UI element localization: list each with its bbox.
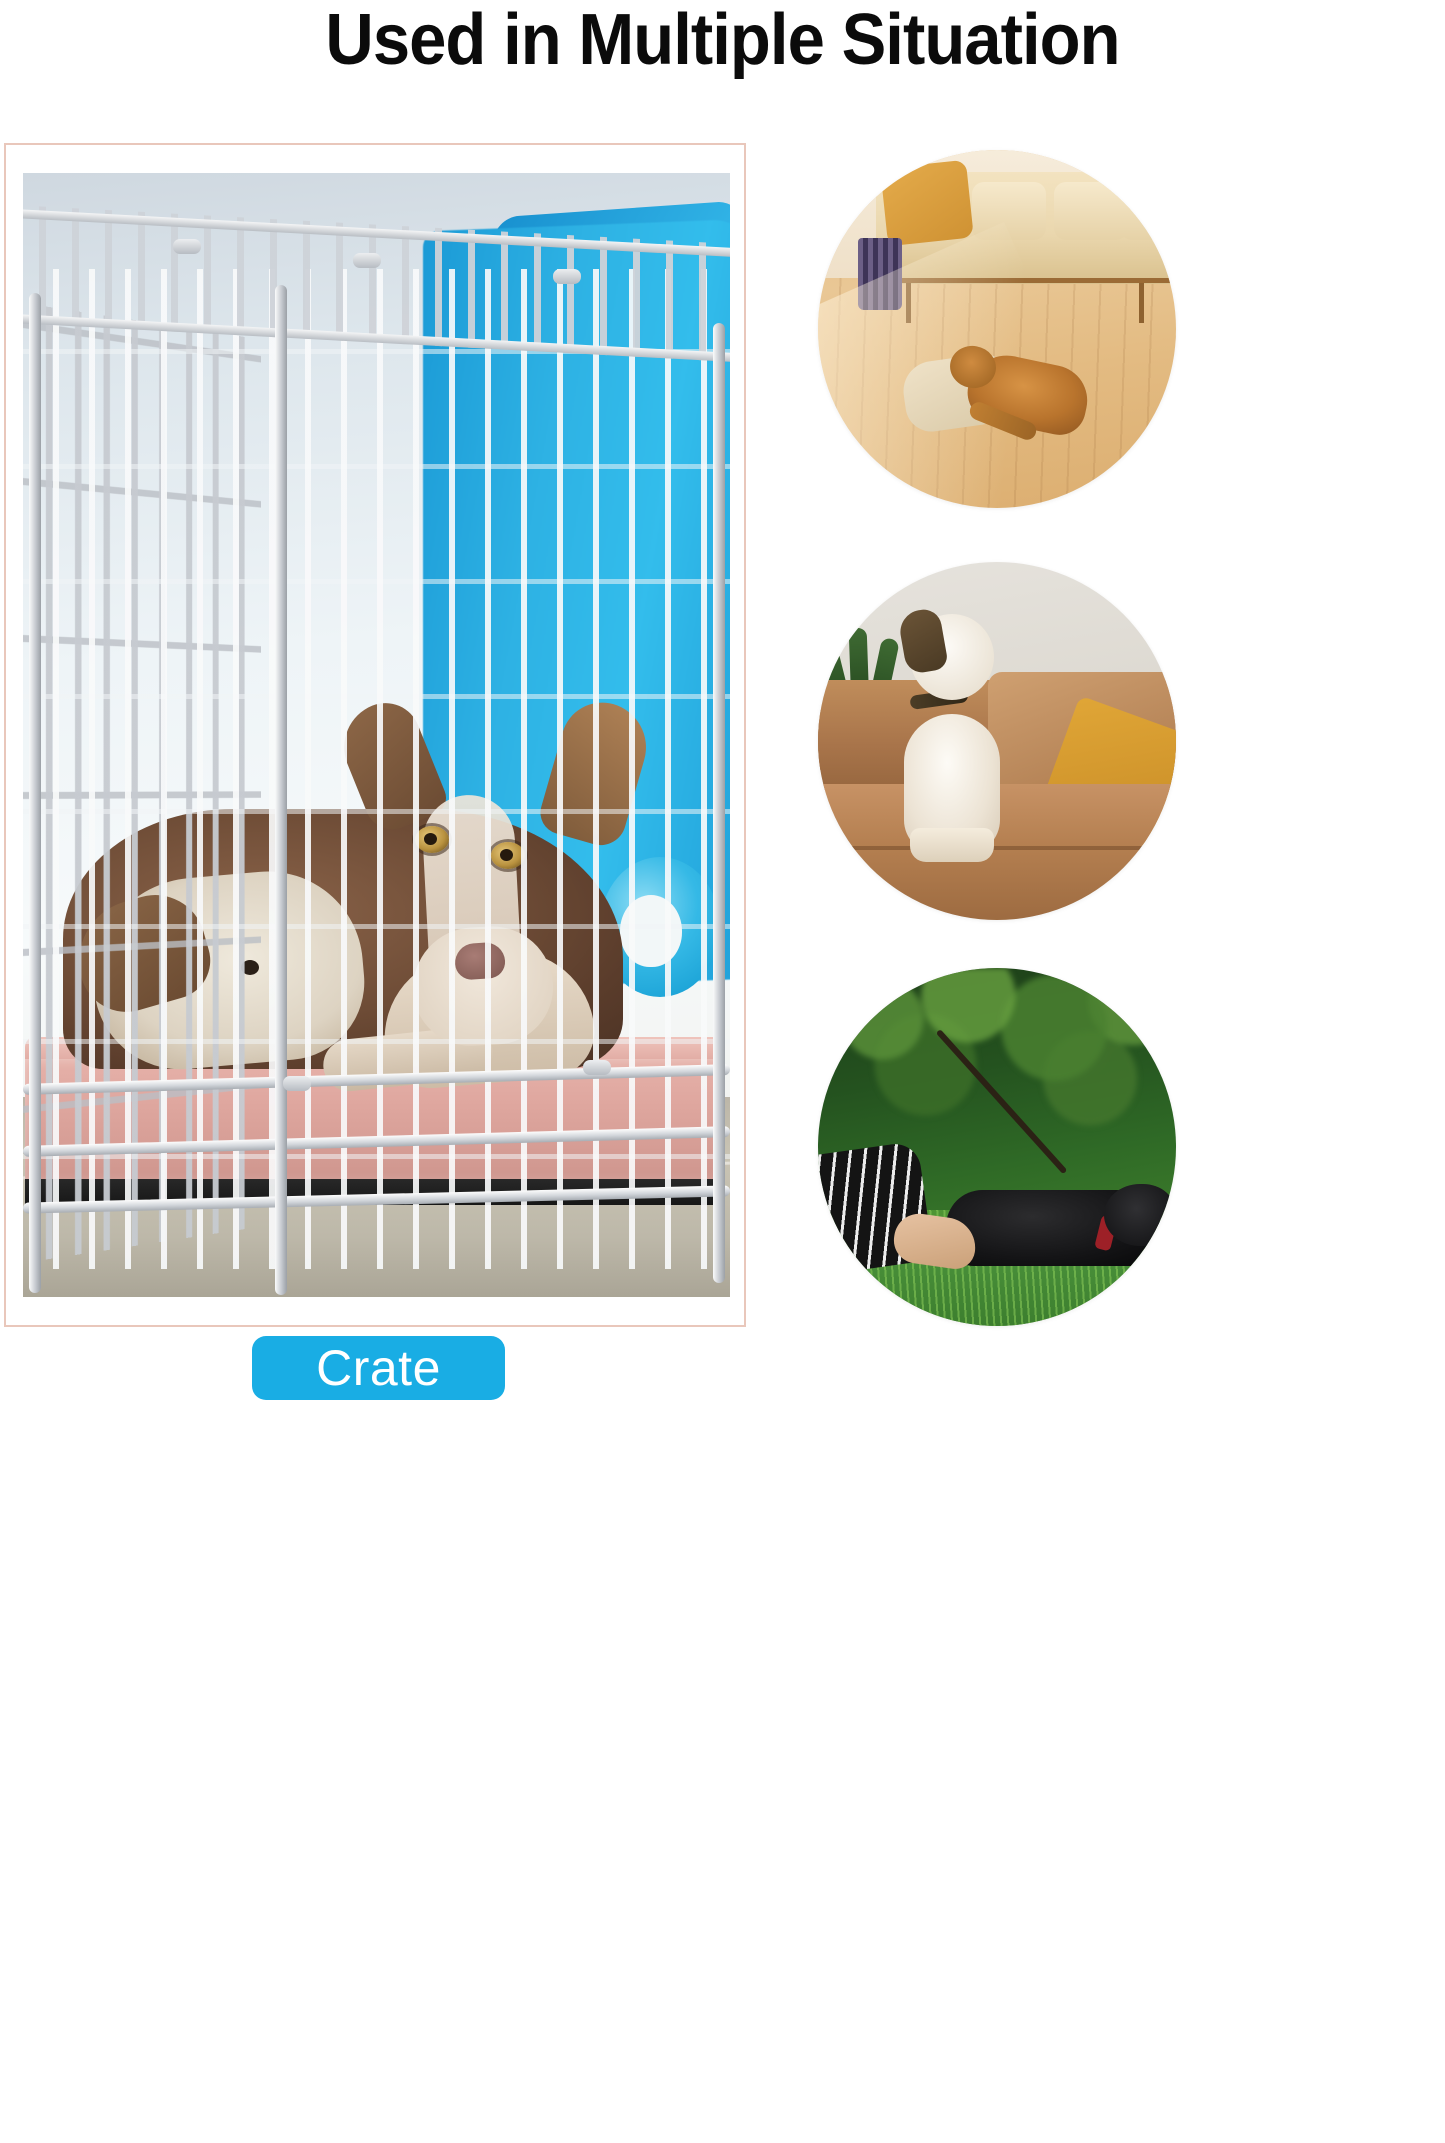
situation-floor: Floor [818, 150, 1438, 510]
floor-thumbnail [818, 150, 1176, 508]
dog-nose [454, 941, 506, 980]
white-dog-legs [910, 828, 994, 862]
outdoor-thumbnail [818, 968, 1176, 1326]
dog-right-eye [491, 842, 525, 869]
black-dog-head [1104, 1184, 1176, 1246]
crate-tray [25, 1175, 725, 1205]
badge-crate[interactable]: Crate [252, 1336, 505, 1400]
page-title: Used in Multiple Situation [51, 0, 1395, 86]
situation-sofa: Sofa [818, 562, 1438, 922]
crate-photo-frame [4, 143, 746, 1327]
situation-outdoor: Outdoor [818, 968, 1438, 1328]
crate-photo [23, 173, 730, 1297]
sofa-thumbnail [818, 562, 1176, 920]
sofa-cushion [1054, 182, 1128, 240]
plush-toy-eye [241, 960, 259, 975]
dog-left-eye [415, 826, 449, 853]
sofa-cushion [1120, 182, 1176, 240]
gold-pillow [880, 160, 974, 247]
